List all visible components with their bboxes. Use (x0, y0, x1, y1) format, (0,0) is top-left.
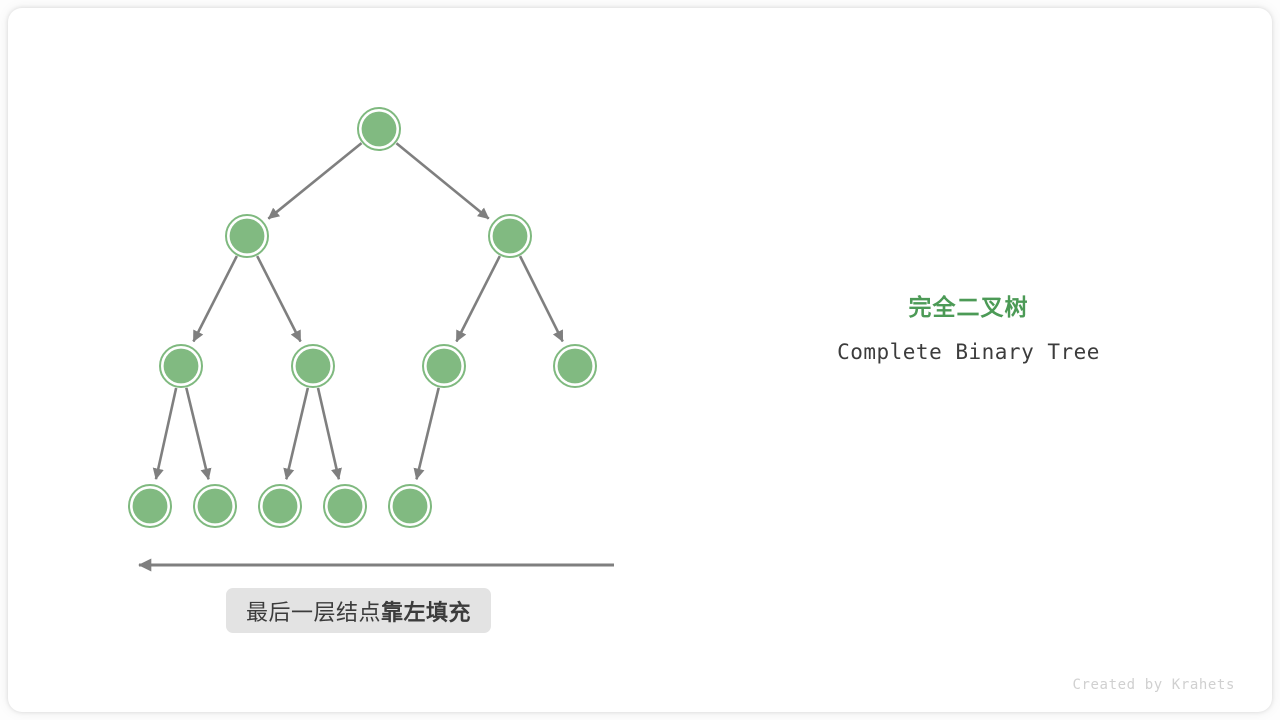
diagram-title: 完全二叉树 (700, 292, 1237, 322)
annotation-pill: 最后一层结点 靠左填充 (226, 588, 491, 633)
footer-credit: Created by Krahets (1072, 677, 1235, 693)
caption-block: 完全二叉树 Complete Binary Tree (700, 292, 1237, 366)
diagram-canvas: 完全二叉树 Complete Binary Tree 最后一层结点 靠左填充 C… (0, 0, 1280, 720)
diagram-subtitle: Complete Binary Tree (700, 338, 1237, 366)
annotation-text-bold: 靠左填充 (381, 595, 471, 627)
annotation-text-plain: 最后一层结点 (246, 595, 381, 627)
